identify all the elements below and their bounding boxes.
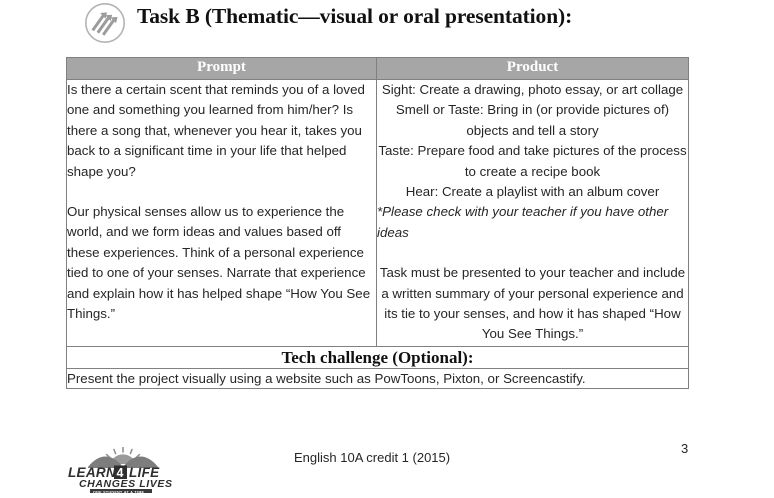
tech-challenge-title: Tech challenge (Optional): — [67, 347, 688, 368]
tech-challenge-title-row: Tech challenge (Optional): — [67, 347, 689, 369]
table-header-row: Prompt Product — [67, 58, 689, 80]
column-header-product: Product — [377, 58, 689, 80]
product-line-hear: Hear: Create a playlist with an album co… — [377, 182, 688, 202]
learn4life-logo: LEARN 4 LIFE CHANGES LIVES ONE STUDENT A… — [66, 447, 180, 493]
column-header-prompt: Prompt — [67, 58, 377, 80]
column-header-product-label: Product — [377, 58, 688, 77]
tech-challenge-desc-row: Present the project visually using a web… — [67, 369, 689, 389]
column-header-prompt-label: Prompt — [67, 58, 376, 77]
product-teacher-note: *Please check with your teacher if you h… — [377, 202, 688, 243]
page-title: Task B (Thematic—visual or oral presenta… — [137, 4, 572, 29]
product-line-sight: Sight: Create a drawing, photo essay, or… — [377, 80, 688, 100]
product-line-smell-taste: Smell or Taste: Bring in (or provide pic… — [377, 100, 688, 141]
tech-challenge-description: Present the project visually using a web… — [67, 369, 688, 388]
prompt-paragraph-2: Our physical senses allow us to experien… — [67, 202, 376, 324]
table-row: Is there a certain scent that reminds yo… — [67, 80, 689, 347]
product-cell: Sight: Create a drawing, photo essay, or… — [377, 80, 689, 347]
tech-challenge-desc-cell: Present the project visually using a web… — [67, 369, 689, 389]
slide-title-row: Task B (Thematic—visual or oral presenta… — [0, 0, 774, 46]
footer-course-note: English 10A credit 1 (2015) — [294, 450, 450, 465]
svg-text:CHANGES LIVES: CHANGES LIVES — [79, 478, 173, 490]
tech-challenge-title-cell: Tech challenge (Optional): — [67, 347, 689, 369]
svg-text:ONE STUDENT AT A TIME: ONE STUDENT AT A TIME — [93, 490, 145, 493]
product-line-taste: Taste: Prepare food and take pictures of… — [377, 141, 688, 182]
product-requirement: Task must be presented to your teacher a… — [377, 263, 688, 345]
upward-arrows-circle-icon — [84, 2, 126, 44]
page-number: 3 — [681, 441, 688, 456]
task-table: Prompt Product Is there a certain scent … — [66, 57, 689, 389]
prompt-paragraph-1: Is there a certain scent that reminds yo… — [67, 80, 376, 182]
prompt-cell: Is there a certain scent that reminds yo… — [67, 80, 377, 347]
